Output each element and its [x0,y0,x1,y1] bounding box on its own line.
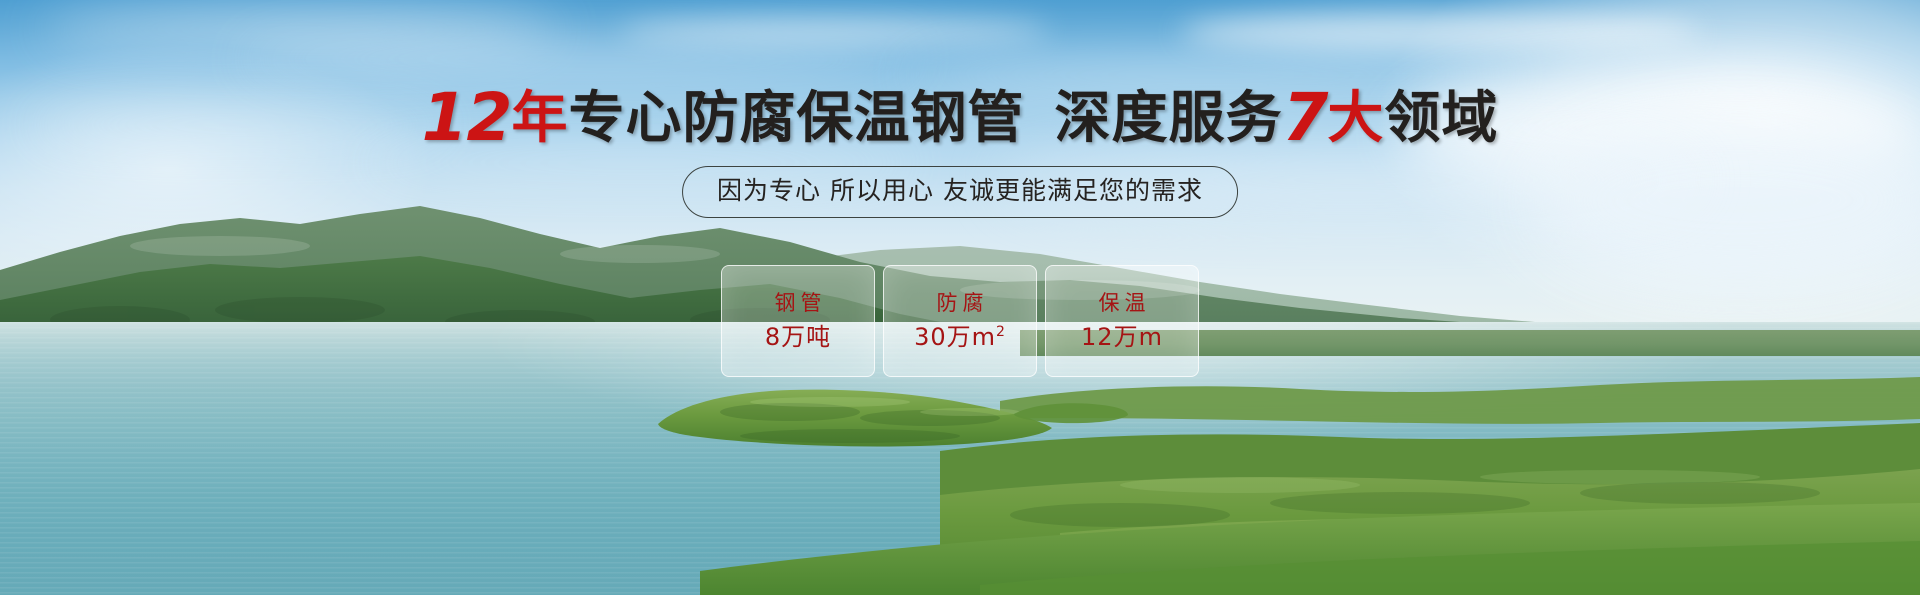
headline-fields-text: 领域 [1384,86,1498,151]
cloud-wisp [240,44,920,74]
banner-headline: 12年专心防腐保温钢管深度服务7大领域 [0,88,1920,149]
subtitle-pill: 因为专心 所以用心 友诚更能满足您的需求 [682,166,1238,218]
headline-main-text: 专心防腐保温钢管 [568,86,1024,151]
stat-card-value: 12万m [1081,322,1163,352]
cloud-wisp [620,18,1050,44]
stat-card-value: 30万m2 [914,322,1006,352]
stat-card-label: 保温 [1094,290,1151,316]
stat-card-value-main: 12万m [1081,323,1163,351]
grass-island [640,382,1060,452]
cloud-wisp [1180,12,1700,52]
stat-cards: 钢管 8万吨 防腐 30万m2 保温 12万m [721,265,1199,377]
headline-fields-number: 7 [1282,79,1327,156]
headline-years-number: 12 [422,79,512,156]
headline-service-text: 深度服务 [1054,86,1282,151]
stat-card-value-main: 30万m [914,323,996,351]
grass-field-bottom [0,475,1920,595]
stat-card-label: 钢管 [770,290,827,316]
stat-card-steel-pipe: 钢管 8万吨 [721,265,875,377]
stat-card-value-main: 8万吨 [765,323,831,351]
subtitle-text: 因为专心 所以用心 友诚更能满足您的需求 [717,176,1203,205]
stat-card-label: 防腐 [932,290,989,316]
stat-card-value-superscript: 2 [996,324,1006,340]
stat-card-anticorrosion: 防腐 30万m2 [883,265,1037,377]
grass-island-small [1010,398,1130,428]
cloud-wisp [40,10,560,48]
stat-card-insulation: 保温 12万m [1045,265,1199,377]
headline-years-unit: 年 [511,86,568,151]
stat-card-value: 8万吨 [765,322,831,352]
hero-banner: 12年专心防腐保温钢管深度服务7大领域 因为专心 所以用心 友诚更能满足您的需求… [0,0,1920,595]
headline-fields-unit: 大 [1327,86,1384,151]
